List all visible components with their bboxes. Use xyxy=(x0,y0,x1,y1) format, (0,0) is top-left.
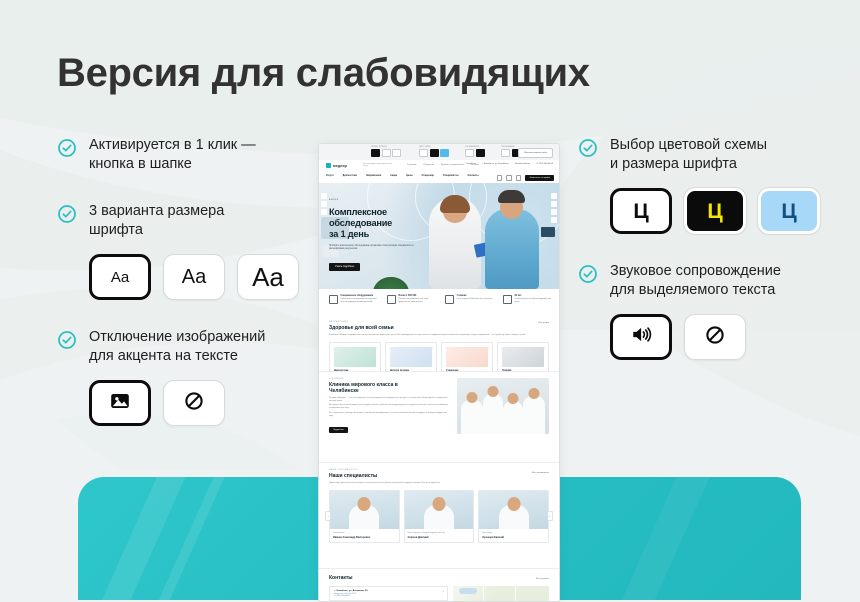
main-nav-item[interactable]: Услуги xyxy=(326,175,334,177)
check-circle-icon xyxy=(57,138,77,158)
nav-icon-group xyxy=(497,175,522,181)
search-icon[interactable] xyxy=(497,175,503,181)
top-nav-item[interactable]: Врачам и специалистам xyxy=(441,164,464,166)
a11y-font-btn[interactable] xyxy=(382,149,391,157)
mockup-section-contacts: Все контакты Контакты + г. Челябинск, ул… xyxy=(319,568,559,602)
chevron-right-icon: › xyxy=(376,346,377,349)
hero-patient-figure xyxy=(485,209,539,289)
hero-control-icon[interactable] xyxy=(551,193,557,199)
card-thumbnail xyxy=(390,347,432,367)
hero-control-icon[interactable] xyxy=(551,217,557,223)
a11y-normal-version-button[interactable]: Обычная версия сайта xyxy=(518,148,553,158)
specialist-photo xyxy=(330,491,399,529)
feature-label: Звуковое сопровождение для выделяемого т… xyxy=(610,262,781,300)
feature-color-scheme: Выбор цветовой схемы и размера шрифта Ц … xyxy=(578,136,830,234)
benefit-text: Сеть клиник в Челябинске и области xyxy=(457,298,493,300)
hero-doctor-figure xyxy=(429,197,481,289)
specialist-card-list: ‹ › Главный врач Иванов Александр Виктор… xyxy=(329,490,549,543)
a11y-color-btn[interactable] xyxy=(430,149,439,157)
a11y-group-font-size: РАЗМЕР ШРИФТА xyxy=(371,146,401,157)
main-nav-item[interactable]: Диагностика xyxy=(343,175,357,177)
specialist-role: Врач-кардиолог, кандидат медицинских нау… xyxy=(408,532,471,534)
clinic-team-photo xyxy=(457,378,549,434)
sound-off-button[interactable] xyxy=(684,314,746,360)
scheme-blue-label: Ц xyxy=(781,201,796,222)
feature-label: Активируется в 1 клик — кнопка в шапке xyxy=(89,136,256,174)
logo-mark-icon xyxy=(326,163,331,168)
hero-plant-decor xyxy=(373,277,409,289)
hero-monitor-decor xyxy=(541,227,555,237)
doctor-figure xyxy=(461,400,483,434)
a11y-group-label: ЦВЕТ САЙТА xyxy=(419,146,449,148)
hero-right-controls xyxy=(551,193,557,223)
contact-phone[interactable]: +7 (351) 000-00-00 xyxy=(334,595,443,597)
specialist-name: Сергеев Дмитрий xyxy=(408,536,471,539)
scheme-white-button[interactable]: Ц xyxy=(610,188,672,234)
hero-left-controls xyxy=(321,193,327,215)
main-nav-item[interactable]: Специалисты xyxy=(443,175,459,177)
expand-icon[interactable]: + xyxy=(442,590,444,593)
phone-link[interactable]: +7 (351) 000-00-00 xyxy=(536,163,553,165)
check-circle-icon xyxy=(57,204,77,224)
scheme-blue-button[interactable]: Ц xyxy=(758,188,820,234)
hero-title: Комплексное обследование за 1 день xyxy=(329,207,392,240)
section-title: Клиника мирового класса в Челябинске xyxy=(329,382,449,394)
features-right-column: Выбор цветовой схемы и размера шрифта Ц … xyxy=(578,136,830,360)
a11y-group-label: ИЗОБРАЖЕНИЯ xyxy=(465,146,485,148)
section-title: Наши специалисты xyxy=(329,473,549,479)
mockup-hero: АКЦИЯ Комплексное обследование за 1 день… xyxy=(319,183,559,289)
prohibition-icon xyxy=(704,324,726,351)
section-more-link[interactable]: Все контакты xyxy=(536,578,549,580)
font-size-button-row: Aa Aa Aa xyxy=(89,254,307,300)
mockup-a11y-toolbar: РАЗМЕР ШРИФТА ЦВЕТ САЙТА ИЗОБРАЖЕНИЯ ОЗВ… xyxy=(319,144,559,161)
feature-disable-images: Отключение изображений для акцента на те… xyxy=(57,328,307,426)
main-nav-item[interactable]: Цены xyxy=(406,175,412,177)
a11y-group-label: РАЗМЕР ШРИФТА xyxy=(371,146,401,148)
chevron-right-icon: › xyxy=(488,346,489,349)
hero-eyebrow: АКЦИЯ xyxy=(329,199,339,201)
contact-item[interactable]: + г. Челябинск, ул. Ангарская, 28 Ежедне… xyxy=(329,586,448,600)
section-paragraph: Все специалисты проходят регулярное повы… xyxy=(329,412,449,417)
benefit-icon xyxy=(503,295,512,304)
hero-control-icon[interactable] xyxy=(321,193,327,199)
user-icon[interactable] xyxy=(506,175,512,181)
benefit-text: Пациентов доверили нам своё здоровье за … xyxy=(399,298,429,303)
features-left-column: Активируется в 1 клик — кнопка в шапке 3… xyxy=(57,136,307,426)
mockup-section-clinic: О КЛИНИКЕ Клиника мирового класса в Челя… xyxy=(319,371,559,462)
main-nav-item[interactable]: Акции xyxy=(390,175,397,177)
color-scheme-button-row: Ц Ц Ц xyxy=(610,188,830,234)
book-appointment-button[interactable]: Записаться на приём xyxy=(525,175,554,181)
specialist-name: Иванов Александр Викторович xyxy=(333,536,396,539)
hero-control-icon[interactable] xyxy=(551,201,557,207)
card-thumbnail xyxy=(446,347,488,367)
hero-control-icon[interactable] xyxy=(551,209,557,215)
main-nav: Услуги Диагностика Направления Акции Цен… xyxy=(326,175,478,177)
a11y-image-btn[interactable] xyxy=(476,149,485,157)
top-nav-item[interactable]: Пациентам xyxy=(424,164,434,166)
benefit-item: Современное оборудованиеРаботаем на аппа… xyxy=(329,295,379,304)
benefit-item: 20 летОпыта работы на рынке медицинских … xyxy=(503,295,553,304)
main-nav-item[interactable]: Контакты xyxy=(468,175,479,177)
benefit-title: 7 клиник xyxy=(457,295,495,298)
sound-on-button[interactable] xyxy=(610,314,672,360)
section-eyebrow: НАШИ СПЕЦИАЛИСТЫ xyxy=(329,469,549,471)
scheme-black-button[interactable]: Ц xyxy=(684,188,746,234)
benefit-text: Опыта работы на рынке медицинских услуг xyxy=(515,298,551,303)
a11y-color-btn[interactable] xyxy=(440,149,449,157)
website-mockup-preview: РАЗМЕР ШРИФТА ЦВЕТ САЙТА ИЗОБРАЖЕНИЯ ОЗВ… xyxy=(318,143,560,602)
images-on-button[interactable] xyxy=(89,380,151,426)
section-body: Приём ведут врачи высшей категории с мно… xyxy=(329,482,549,485)
font-size-large-label: Aa xyxy=(252,264,284,290)
top-nav-item[interactable]: О клинике xyxy=(407,164,417,166)
specialist-card[interactable]: Врач-хирург Кузнецов Евгений xyxy=(478,490,549,543)
section-eyebrow: НАПРАВЛЕНИЯ xyxy=(329,321,549,323)
benefit-title: Более 1 000 000 xyxy=(399,295,437,298)
specialist-role: Врач-хирург xyxy=(482,532,545,534)
main-nav-item[interactable]: Направления xyxy=(366,175,381,177)
site-logo[interactable]: медеор xyxy=(326,163,347,168)
images-off-button[interactable] xyxy=(163,380,225,426)
doctor-figure xyxy=(523,396,545,434)
a11y-image-btn[interactable] xyxy=(465,149,474,157)
benefit-item: Более 1 000 000Пациентов доверили нам св… xyxy=(387,295,437,304)
a11y-group-images: ИЗОБРАЖЕНИЯ xyxy=(465,146,485,157)
a11y-font-btn[interactable] xyxy=(392,149,401,157)
benefit-icon xyxy=(329,295,338,304)
font-size-medium-button[interactable]: Aa xyxy=(163,254,225,300)
card-thumbnail xyxy=(334,347,376,367)
a11y-group-color: ЦВЕТ САЙТА xyxy=(419,146,449,157)
contact-name: г. Челябинск, ул. Ангарская, 28 xyxy=(334,590,443,592)
benefit-icon xyxy=(445,295,454,304)
hero-subtitle: Пройдите комплексное обследование органи… xyxy=(329,245,425,251)
font-size-medium-label: Aa xyxy=(182,267,206,287)
section-more-link[interactable]: Все услуги xyxy=(539,322,549,324)
font-size-small-label: Aa xyxy=(111,270,129,285)
feature-label: Выбор цветовой схемы и размера шрифта xyxy=(610,136,767,174)
city-selector[interactable]: Челябинск xyxy=(466,163,476,165)
section-more-link[interactable]: Все специалисты xyxy=(532,472,549,474)
hero-control-icon[interactable] xyxy=(321,209,327,215)
mockup-section-specialists: НАШИ СПЕЦИАЛИСТЫ Все специалисты Наши сп… xyxy=(319,462,559,568)
chevron-right-icon: › xyxy=(544,346,545,349)
site-top-right: Челябинск г. Челябинск, ул. Российская Л… xyxy=(466,163,553,165)
a11y-font-btn[interactable] xyxy=(371,149,380,157)
doctor-figure xyxy=(483,394,503,434)
check-circle-icon xyxy=(578,138,598,158)
font-size-large-button[interactable]: Aa xyxy=(237,254,299,300)
speaker-icon xyxy=(630,323,653,351)
check-circle-icon xyxy=(57,330,77,350)
feature-activate-one-click: Активируется в 1 клик — кнопка в шапке xyxy=(57,136,307,174)
account-link[interactable]: Личный кабинет xyxy=(515,163,530,165)
feature-font-size: 3 варианта размера шрифта Aa Aa Aa xyxy=(57,202,307,300)
benefit-title: 20 лет xyxy=(515,295,553,298)
logo-text: медеор xyxy=(333,164,347,168)
hero-cta-button[interactable]: Узнать подробнее xyxy=(329,263,360,271)
chevron-right-icon: › xyxy=(432,346,433,349)
images-button-row xyxy=(89,380,307,426)
sound-button-row xyxy=(610,314,830,360)
feature-audio-narration: Звуковое сопровождение для выделяемого т… xyxy=(578,262,830,360)
benefit-text: Работаем на аппаратуре экспертного класс… xyxy=(341,298,377,303)
site-tagline: Многопрофильный медицинский центр xyxy=(363,163,397,168)
specialist-photo xyxy=(479,491,548,529)
section-paragraph: Мы применяем только проверенные методики… xyxy=(329,404,449,409)
a11y-sound-btn[interactable] xyxy=(501,149,510,157)
section-paragraph: Клиника «Медеор» — это сеть современных … xyxy=(329,397,449,402)
section-title: Здоровье для всей семьи xyxy=(329,325,549,331)
scheme-black-label: Ц xyxy=(707,201,722,222)
specialist-name: Кузнецов Евгений xyxy=(482,536,545,539)
prohibition-icon xyxy=(183,390,205,417)
benefit-item: 7 клиникСеть клиник в Челябинске и облас… xyxy=(445,295,495,304)
benefit-title: Современное оборудование xyxy=(341,295,379,298)
doctor-figure xyxy=(503,401,523,434)
feature-label: 3 варианта размера шрифта xyxy=(89,202,224,240)
hero-control-icon[interactable] xyxy=(321,201,327,207)
page-title: Версия для слабовидящих xyxy=(57,51,590,96)
specialist-card[interactable]: Главный врач Иванов Александр Викторович xyxy=(329,490,400,543)
menu-icon[interactable] xyxy=(516,175,522,181)
specialist-photo xyxy=(405,491,474,529)
font-size-small-button[interactable]: Aa xyxy=(89,254,151,300)
mockup-benefits-strip: Современное оборудованиеРаботаем на аппа… xyxy=(319,289,559,316)
benefit-icon xyxy=(387,295,396,304)
section-title: Контакты xyxy=(329,575,549,581)
specialist-card[interactable]: Врач-кардиолог, кандидат медицинских нау… xyxy=(404,490,475,543)
main-nav-item[interactable]: Стационар xyxy=(422,175,434,177)
section-eyebrow: О КЛИНИКЕ xyxy=(329,378,449,380)
scheme-white-label: Ц xyxy=(633,201,648,222)
check-circle-icon xyxy=(578,264,598,284)
a11y-color-btn[interactable] xyxy=(419,149,428,157)
feature-label: Отключение изображений для акцента на те… xyxy=(89,328,265,366)
card-thumbnail xyxy=(502,347,544,367)
clinic-more-button[interactable]: Подробнее xyxy=(329,427,348,433)
image-icon xyxy=(109,390,131,417)
address-text: г. Челябинск, ул. Российская xyxy=(482,163,509,165)
section-body: В клинике «Медеор» медицинская помощь ок… xyxy=(329,334,549,337)
specialist-role: Главный врач xyxy=(333,532,396,534)
